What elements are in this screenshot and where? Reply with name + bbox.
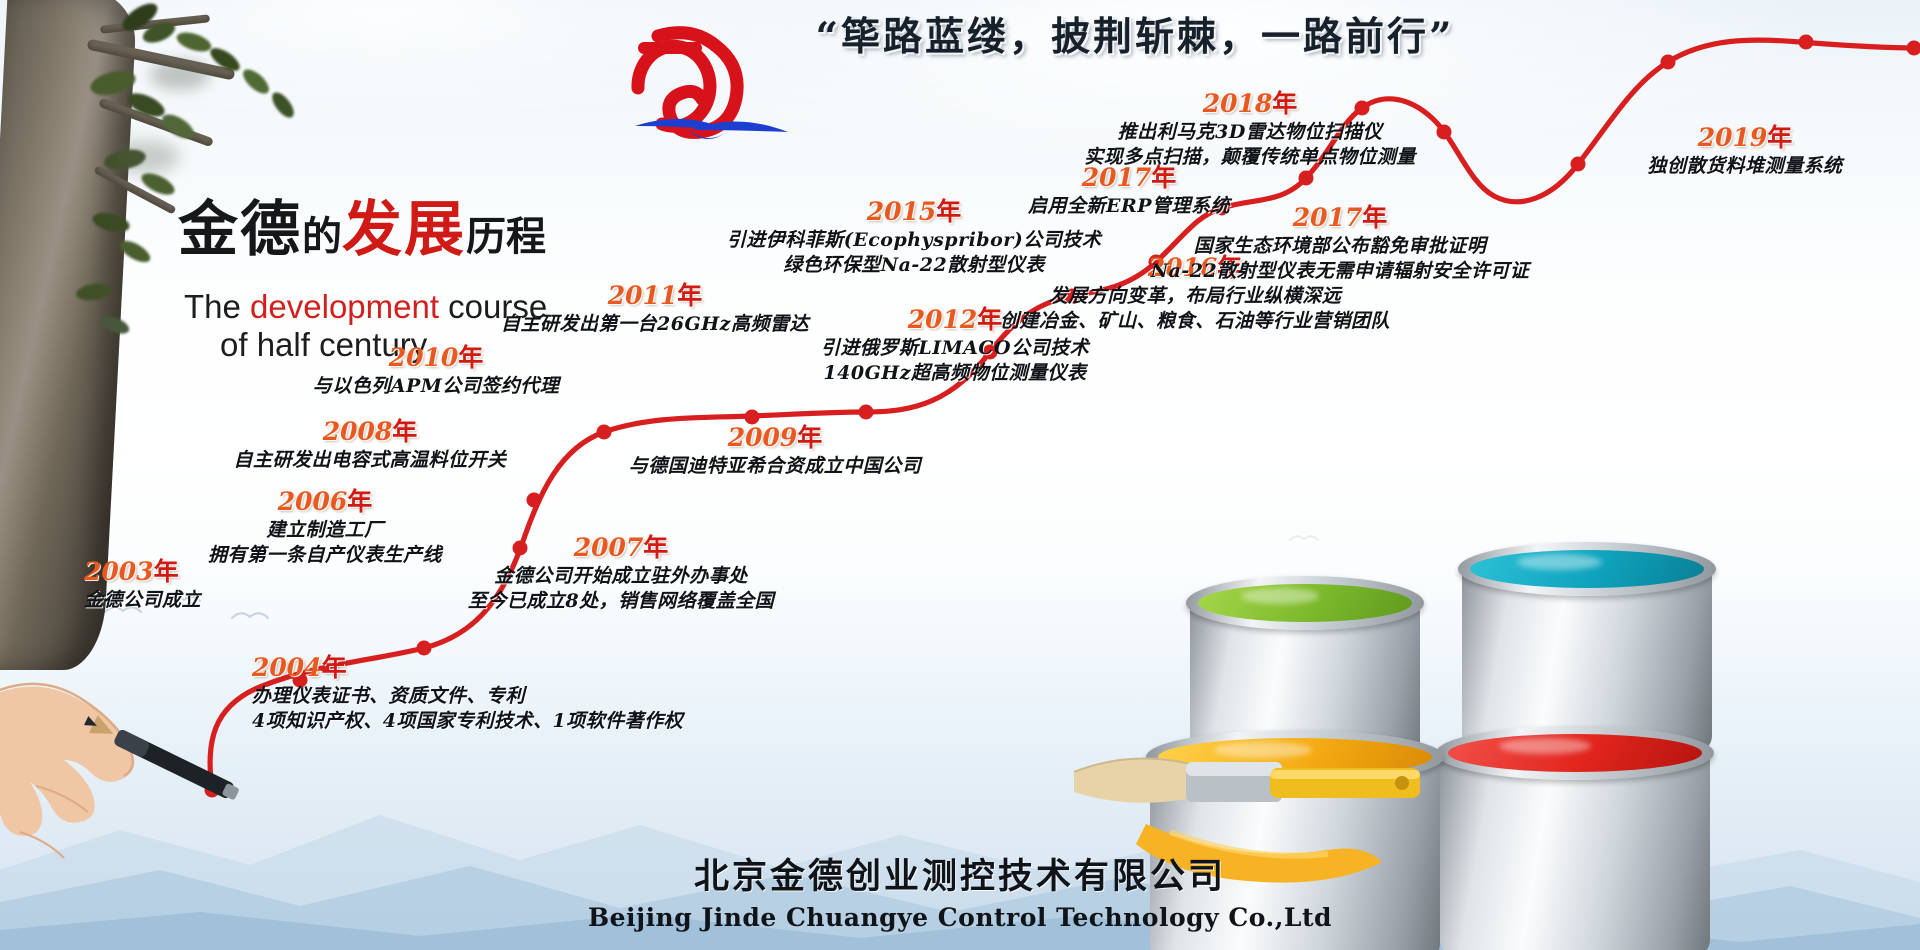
timeline-entry-2011[interactable]: 2011年 自主研发出第一台26GHz高频雷达 — [480, 276, 830, 337]
entry-line: 发展方向变革，布局行业纵横深远 — [1000, 284, 1390, 309]
subtitle-the: The — [184, 288, 250, 325]
entry-line: 国家生态环境部公布豁免审批证明 — [1140, 234, 1540, 259]
year-label: 2006年 — [130, 482, 520, 518]
title-brand: 金德 — [178, 195, 302, 265]
company-name-en: Beijing Jinde Chuangye Control Technolog… — [0, 903, 1920, 932]
entry-line: 实现多点扫描，颠覆传统单点物位测量 — [1040, 145, 1460, 170]
entry-line: Na-22散射型仪表无需申请辐射安全许可证 — [1140, 259, 1540, 284]
jinde-logo — [600, 18, 820, 158]
year-label: 2008年 — [160, 412, 580, 448]
timeline-entry-2017-env[interactable]: 2017年 国家生态环境部公布豁免审批证明 Na-22散射型仪表无需申请辐射安全… — [1140, 198, 1540, 284]
entry-line: 至今已成立8处，销售网络覆盖全国 — [406, 589, 836, 614]
title-development: 发展 — [342, 195, 466, 265]
year-label: 2004年 — [252, 648, 683, 684]
entry-line: 自主研发出电容式高温料位开关 — [160, 448, 580, 473]
timeline-entry-2008[interactable]: 2008年 自主研发出电容式高温料位开关 — [160, 412, 580, 473]
entry-line: 办理仪表证书、资质文件、专利 — [252, 684, 683, 709]
footer: 北京金德创业测控技术有限公司 Beijing Jinde Chuangye Co… — [0, 848, 1920, 932]
timeline-entry-2009[interactable]: 2009年 与德国迪特亚希合资成立中国公司 — [540, 418, 1010, 479]
title-course: 历程 — [466, 213, 546, 260]
subtitle-development: development — [250, 288, 439, 325]
page-title: 金德的发展历程 — [178, 181, 546, 268]
entry-line: 引进俄罗斯LIMACO公司技术 — [790, 336, 1120, 361]
entry-line: 与德国迪特亚希合资成立中国公司 — [540, 454, 1010, 479]
year-label: 2019年 — [1570, 118, 1920, 154]
entry-line: 金德公司成立 — [84, 588, 201, 613]
paint-gloss — [1241, 588, 1319, 604]
entry-line: 与以色列APM公司签约代理 — [256, 374, 616, 399]
title-de: 的 — [302, 213, 342, 260]
poster-canvas: “筚路蓝缕，披荆斩棘，一路前行” 金德的发展历程 The development… — [0, 0, 1920, 950]
year-label: 2007年 — [406, 528, 836, 564]
entry-line: 金德公司开始成立驻外办事处 — [406, 564, 836, 589]
timeline-entry-2004[interactable]: 2004年 办理仪表证书、资质文件、专利 4项知识产权、4项国家专利技术、1项软… — [252, 648, 683, 734]
year-label: 2010年 — [256, 338, 616, 374]
year-label: 2011年 — [480, 276, 830, 312]
entry-line: 推出利马克3D雷达物位扫描仪 — [1040, 120, 1460, 145]
entry-line: 创建冶金、矿山、粮食、石油等行业营销团队 — [1000, 309, 1390, 334]
timeline-entry-2007[interactable]: 2007年 金德公司开始成立驻外办事处 至今已成立8处，销售网络覆盖全国 — [406, 528, 836, 614]
entry-line: 自主研发出第一台26GHz高频雷达 — [480, 312, 830, 337]
entry-line: 4项知识产权、4项国家专利技术、1项软件著作权 — [252, 709, 683, 734]
year-label: 2018年 — [1040, 84, 1460, 120]
entry-line: 独创散货料堆测量系统 — [1570, 154, 1920, 179]
year-label: 2009年 — [540, 418, 1010, 454]
company-name-zh: 北京金德创业测控技术有限公司 — [0, 848, 1920, 899]
paint-gloss — [1517, 554, 1602, 570]
timeline-entry-2019[interactable]: 2019年 独创散货料堆测量系统 — [1570, 118, 1920, 179]
timeline-entry-2018[interactable]: 2018年 推出利马克3D雷达物位扫描仪 实现多点扫描，颠覆传统单点物位测量 — [1040, 84, 1460, 170]
year-label: 2017年 — [1140, 198, 1540, 234]
banner-quote: “筚路蓝缕，披荆斩棘，一路前行” — [795, 6, 1475, 60]
timeline-entry-2010[interactable]: 2010年 与以色列APM公司签约代理 — [256, 338, 616, 399]
entry-line: 140GHz超高频物位测量仪表 — [790, 361, 1120, 386]
